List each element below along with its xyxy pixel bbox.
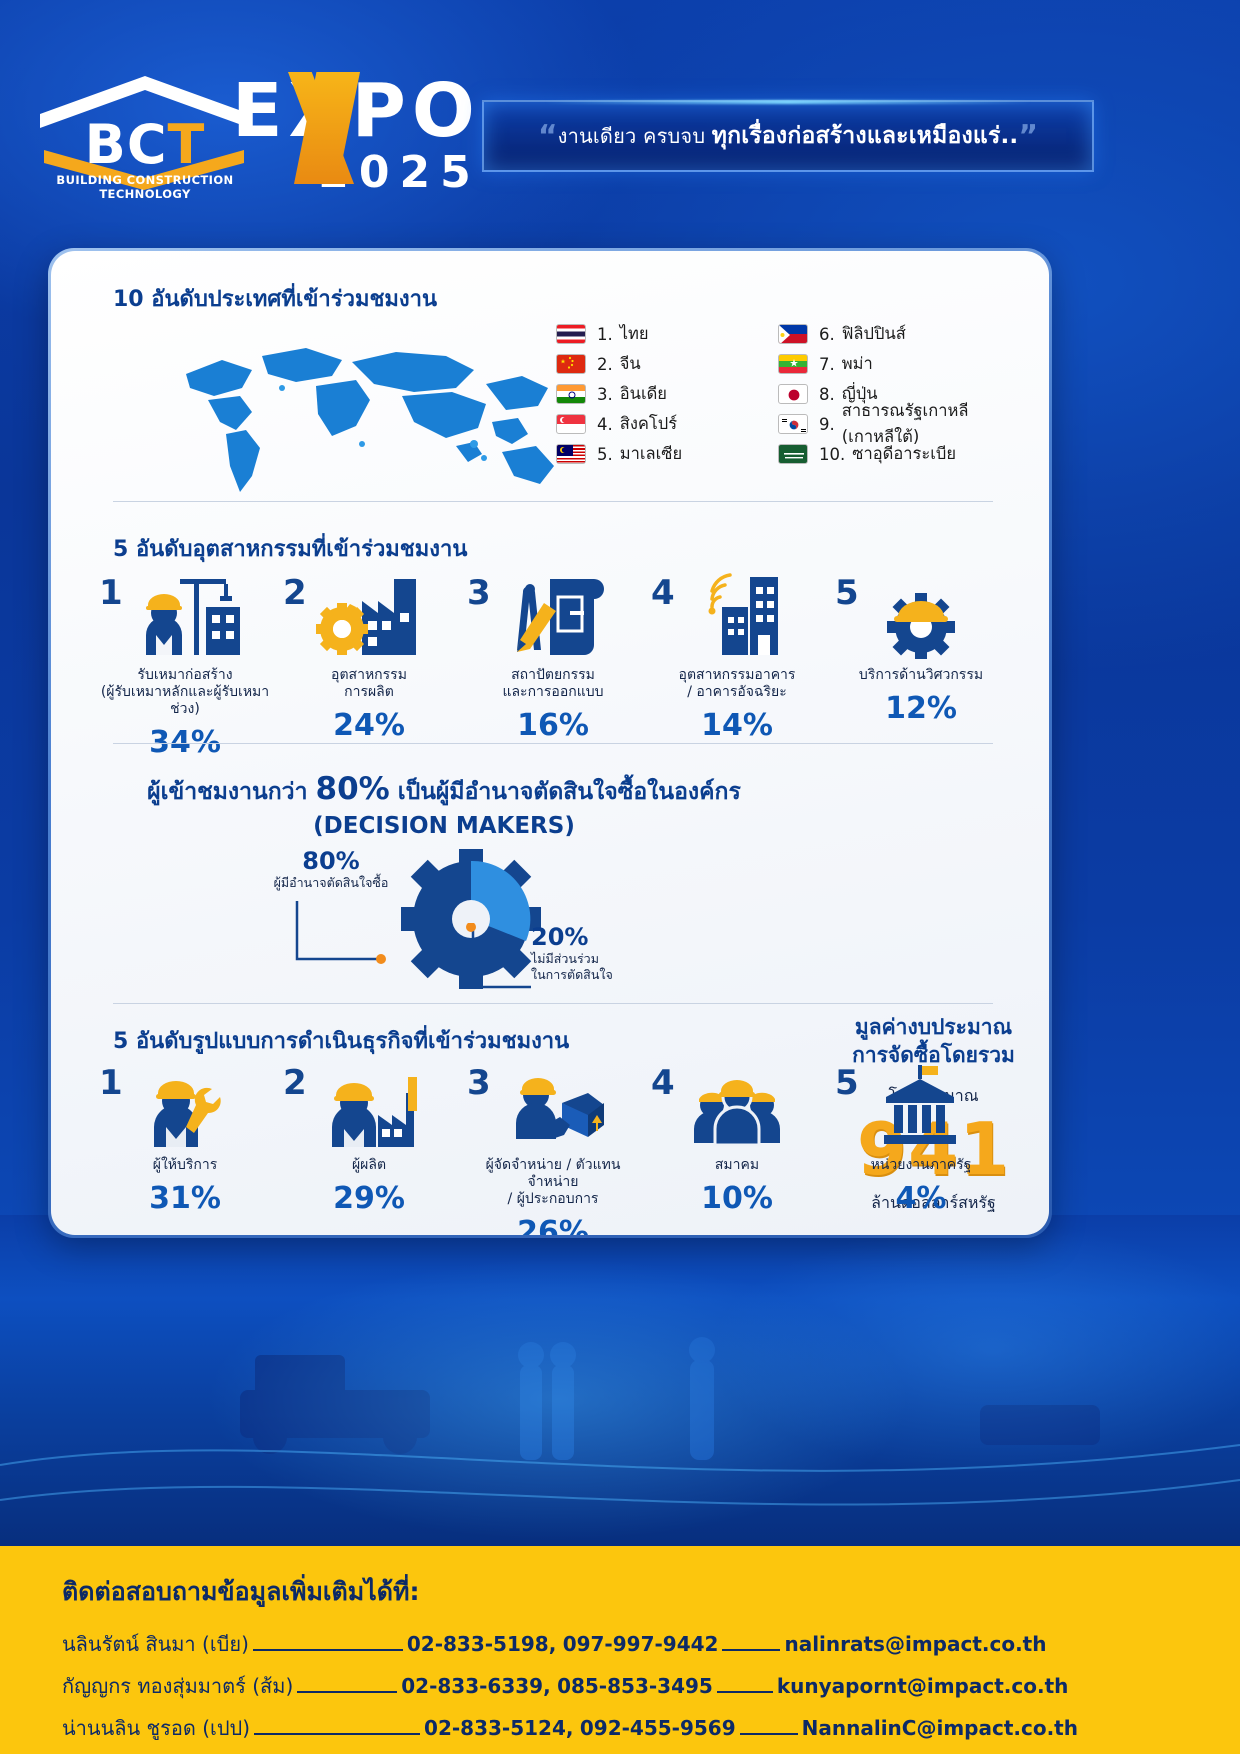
bct-logo: BCT BUILDING CONSTRUCTION TECHNOLOGY xyxy=(40,46,250,206)
industry-percent: 12% xyxy=(829,691,1013,726)
business-section-title: 5 อันดับรูปแบบการดำเนินธุรกิจที่เข้าร่วม… xyxy=(113,1023,569,1058)
business-percent: 26% xyxy=(461,1215,645,1235)
dm-headline-post: เป็นผู้มีอำนาจตัดสินใจซื้อในองค์กร xyxy=(390,779,741,805)
industry-item-3: 3 xyxy=(461,573,645,760)
industry-label-line1: บริการด้านวิศวกรรม xyxy=(829,667,1013,684)
dm-right-leader-line xyxy=(459,923,549,999)
contact-name: น่านนลิน ชูรอด (เปป) xyxy=(62,1712,250,1744)
contact-phone-2[interactable]: 097-997-9442 xyxy=(563,1632,719,1656)
contact-name: นลินรัตน์ สินมา (เบีย) xyxy=(62,1628,249,1660)
divider-3 xyxy=(113,1003,993,1004)
business-rank: 3 xyxy=(467,1063,491,1103)
business-label-line1: ผู้ให้บริการ xyxy=(93,1157,277,1174)
country-num: 8. xyxy=(819,385,835,404)
poster-background: BCT BUILDING CONSTRUCTION TECHNOLOGY EXP… xyxy=(0,0,1240,1754)
budget-title-line1: มูลค่างบประมาณ xyxy=(821,1013,1046,1041)
industries-row: 1 xyxy=(93,573,1013,760)
expo-year: 2025 xyxy=(232,147,481,198)
scene-glow xyxy=(0,1215,1240,1550)
business-percent: 29% xyxy=(277,1181,461,1216)
contact-rule xyxy=(740,1733,798,1735)
country-name: สิงคโปร์ xyxy=(620,411,677,437)
business-item-1: 1 ผู้ให้บริการ 31% xyxy=(93,1063,277,1235)
flag-sa-icon xyxy=(778,444,808,464)
country-row-4: 4. สิงคโปร์ xyxy=(556,409,682,439)
decision-makers-left-callout: 80% ผู้มีอำนาจตัดสินใจซื้อ xyxy=(251,847,411,891)
contact-phone-2[interactable]: 092-455-9569 xyxy=(580,1716,736,1740)
industries-section-title: 5 อันดับอุตสาหกรรมที่เข้าร่วมชมงาน xyxy=(113,531,467,566)
dm-headline-big: 80% xyxy=(316,771,390,807)
business-rank: 5 xyxy=(835,1063,859,1103)
contact-name: กัญญกร ทองสุ่มมาตร์ (ส้ม) xyxy=(62,1670,293,1702)
dm-right-sublabel-line1: ไม่มีส่วนร่วม xyxy=(531,951,701,967)
header: BCT BUILDING CONSTRUCTION TECHNOLOGY EXP… xyxy=(0,0,1240,232)
business-item-2: 2 ผู้ผลิต xyxy=(277,1063,461,1235)
industry-percent: 24% xyxy=(277,708,461,743)
contact-phone-1[interactable]: 02-833-5124, xyxy=(424,1716,573,1740)
logo-subtitle-line1: BUILDING CONSTRUCTION xyxy=(40,173,250,187)
business-rank: 2 xyxy=(283,1063,307,1103)
contact-rule xyxy=(717,1691,773,1693)
industry-item-1: 1 xyxy=(93,573,277,760)
country-name: ฟิลิปปินส์ xyxy=(842,321,906,347)
industry-item-5: 5 xyxy=(829,573,1013,760)
flag-my-icon xyxy=(556,444,586,464)
industry-label-line1: รับเหมาก่อสร้าง xyxy=(93,667,277,684)
country-row-7: 7. พม่า xyxy=(778,349,1036,379)
contact-row-2: กัญญกร ทองสุ่มมาตร์ (ส้ม) 02-833-6339, 0… xyxy=(62,1670,1182,1702)
business-label-line1: หน่วยงานภาครัฐ xyxy=(829,1157,1013,1174)
business-label-line1: ผู้จัดจำหน่าย / ตัวแทนจำหน่าย xyxy=(461,1157,645,1191)
flag-mm-icon xyxy=(778,354,808,374)
country-num: 7. xyxy=(819,355,835,374)
dm-right-sublabel-line2: ในการตัดสินใจ xyxy=(531,967,701,983)
country-name: ซาอุดีอาระเบีย xyxy=(852,441,956,467)
dm-headline-pre: ผู้เข้าชมงานกว่า xyxy=(147,779,315,805)
business-types-row: 1 ผู้ให้บริการ 31% xyxy=(93,1063,1013,1235)
industry-label-line1: อุตสาหกรรมอาคาร xyxy=(645,667,829,684)
contact-rule xyxy=(297,1691,397,1693)
world-map-graphic xyxy=(156,326,586,506)
contact-phone-2[interactable]: 085-853-3495 xyxy=(557,1674,713,1698)
contact-footer: ติดต่อสอบถามข้อมูลเพิ่มเติมได้ที่: นลินร… xyxy=(0,1546,1240,1754)
contact-row-1: นลินรัตน์ สินมา (เบีย) 02-833-5198, 097-… xyxy=(62,1628,1182,1660)
country-row-5: 5. มาเลเซีย xyxy=(556,439,682,469)
contact-footer-title: ติดต่อสอบถามข้อมูลเพิ่มเติมได้ที่: xyxy=(62,1572,419,1612)
contact-rule xyxy=(253,1649,403,1651)
country-row-1: 1. ไทย xyxy=(556,319,682,349)
country-name: พม่า xyxy=(842,351,873,377)
flag-kr-icon xyxy=(778,414,808,434)
industry-label-line1: สถาปัตยกรรม xyxy=(461,667,645,684)
country-row-3: 3. อินเดีย xyxy=(556,379,682,409)
industrial-scene-backdrop xyxy=(0,1215,1240,1550)
business-item-3: 3 ผู้จัดจำหน่าย / ตัวแทน xyxy=(461,1063,645,1235)
industry-label-line2: การผลิต xyxy=(277,684,461,701)
country-num: 1. xyxy=(597,325,613,344)
industry-rank: 1 xyxy=(99,573,123,613)
business-label-line2: / ผู้ประกอบการ xyxy=(461,1191,645,1208)
contact-email[interactable]: nalinrats@impact.co.th xyxy=(784,1632,1046,1656)
expo-wordmark: EXPO 2025 xyxy=(232,78,481,198)
tagline-text: งานเดียว ครบจบ ทุกเรื่องก่อสร้างและเหมือ… xyxy=(558,118,1019,154)
country-row-9: 9. สาธารณรัฐเกาหลี (เกาหลีใต้) xyxy=(778,409,1036,439)
divider-1 xyxy=(113,501,993,502)
contact-row-3: น่านนลิน ชูรอด (เปป) 02-833-5124, 092-45… xyxy=(62,1712,1182,1744)
industry-percent: 14% xyxy=(645,708,829,743)
quote-open-icon: “ xyxy=(538,119,558,154)
country-num: 3. xyxy=(597,385,613,404)
industry-percent: 16% xyxy=(461,708,645,743)
decision-makers-right-callout: 20% ไม่มีส่วนร่วม ในการตัดสินใจ xyxy=(531,923,701,982)
country-column-right: 6. ฟิลิปปินส์ 7. พม่า 8. ญี่ปุ่น 9. สาธา… xyxy=(778,319,1036,469)
quote-close-icon: ” xyxy=(1018,119,1038,154)
business-label-line1: สมาคม xyxy=(645,1157,829,1174)
logo-subtitle-line2: TECHNOLOGY xyxy=(40,187,250,201)
contact-email[interactable]: kunyapornt@impact.co.th xyxy=(777,1674,1069,1698)
business-item-4: 4 สมาคม xyxy=(645,1063,829,1235)
industry-item-2: 2 xyxy=(277,573,461,760)
country-column-left: 1. ไทย 2. จีน 3. อินเดีย 4. สิงคโปร์ xyxy=(556,319,682,469)
business-rank: 4 xyxy=(651,1063,675,1103)
flag-cn-icon xyxy=(556,354,586,374)
industry-rank: 3 xyxy=(467,573,491,613)
country-num: 10. xyxy=(819,445,845,464)
industry-label-line2: / อาคารอัจฉริยะ xyxy=(645,684,829,701)
countries-section-title: 10 อันดับประเทศที่เข้าร่วมชมงาน xyxy=(113,281,437,316)
decision-makers-headline: ผู้เข้าชมงานกว่า 80% เป็นผู้มีอำนาจตัดสิ… xyxy=(79,769,809,842)
logo-wordmark: BCT xyxy=(40,118,250,172)
dm-headline-en: (DECISION MAKERS) xyxy=(79,811,809,842)
business-percent: 10% xyxy=(645,1181,829,1216)
country-num: 4. xyxy=(597,415,613,434)
flag-in-icon xyxy=(556,384,586,404)
dm-left-leader-line xyxy=(287,899,417,989)
industry-label-line1: อุตสาหกรรม xyxy=(277,667,461,684)
country-name: ไทย xyxy=(620,321,649,347)
country-num: 5. xyxy=(597,445,613,464)
tagline-banner: “ งานเดียว ครบจบ ทุกเรื่องก่อสร้างและเหม… xyxy=(482,100,1094,172)
dm-left-sublabel: ผู้มีอำนาจตัดสินใจซื้อ xyxy=(251,875,411,891)
flag-th-icon xyxy=(556,324,586,344)
industry-label-line2: (ผู้รับเหมาหลักและผู้รับเหมาช่วง) xyxy=(93,684,277,718)
industry-rank: 4 xyxy=(651,573,675,613)
country-name: จีน xyxy=(620,351,641,377)
business-percent: 31% xyxy=(93,1181,277,1216)
country-row-2: 2. จีน xyxy=(556,349,682,379)
flag-ph-icon xyxy=(778,324,808,344)
contact-rule xyxy=(722,1649,780,1651)
industry-item-4: 4 xyxy=(645,573,829,760)
contact-rule xyxy=(254,1733,420,1735)
country-num: 2. xyxy=(597,355,613,374)
business-rank: 1 xyxy=(99,1063,123,1103)
country-num: 9. xyxy=(819,415,835,434)
industry-rank: 5 xyxy=(835,573,859,613)
country-name: อินเดีย xyxy=(620,381,667,407)
contact-phone-1[interactable]: 02-833-6339, xyxy=(401,1674,550,1698)
industry-label-line2: และการออกแบบ xyxy=(461,684,645,701)
country-name: มาเลเซีย xyxy=(620,441,682,467)
business-label-line1: ผู้ผลิต xyxy=(277,1157,461,1174)
flag-sg-icon xyxy=(556,414,586,434)
contact-phone-1[interactable]: 02-833-5198, xyxy=(407,1632,556,1656)
contact-email[interactable]: NannalinC@impact.co.th xyxy=(802,1716,1078,1740)
divider-2 xyxy=(113,743,993,744)
dm-left-percent: 80% xyxy=(251,847,411,875)
stats-card: 10 อันดับประเทศที่เข้าร่วมชมงาน xyxy=(48,248,1052,1238)
country-num: 6. xyxy=(819,325,835,344)
country-row-6: 6. ฟิลิปปินส์ xyxy=(778,319,1036,349)
business-percent: 4% xyxy=(829,1181,1013,1216)
flag-jp-icon xyxy=(778,384,808,404)
industry-rank: 2 xyxy=(283,573,307,613)
dm-right-percent: 20% xyxy=(531,923,701,951)
business-item-5: 5 หน่วยงานภาครัฐ xyxy=(829,1063,1013,1235)
